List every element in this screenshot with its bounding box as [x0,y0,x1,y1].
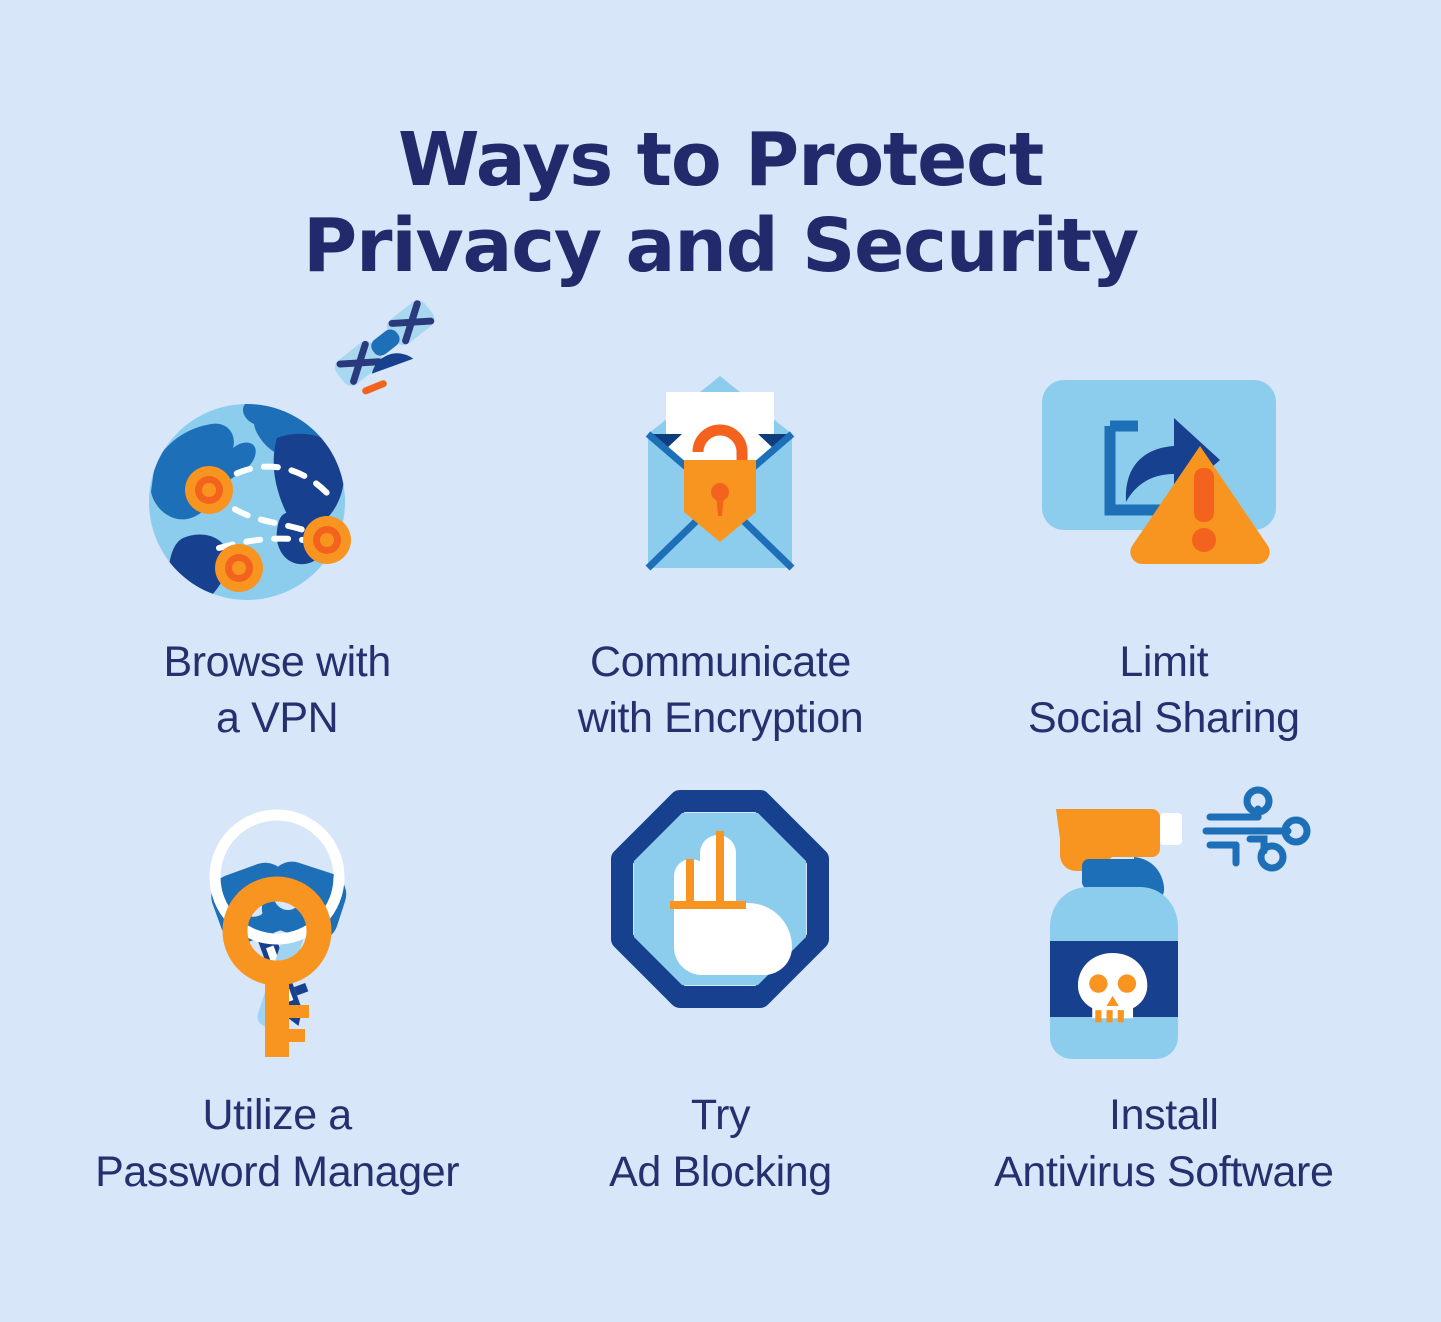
caption-line-1: Communicate [578,634,864,691]
caption-line-2: a VPN [163,690,390,747]
caption-line-1: Install [994,1087,1333,1144]
page-title: Ways to Protect Privacy and Security [171,118,1271,290]
stop-hand-icon [570,773,870,1073]
spray-bottle-skull-icon [1014,773,1314,1073]
tip-card-limit-social-sharing: Limit Social Sharing [942,342,1385,748]
share-warning-icon [1014,342,1314,612]
caption-line-2: Social Sharing [1028,690,1300,747]
tips-grid: Browse with a VPN [56,342,1386,1201]
caption-line-1: Limit [1028,634,1300,691]
caption-line-2: with Encryption [578,690,864,747]
page-title-line-1: Ways to Protect [171,118,1271,204]
caption-line-1: Browse with [163,634,390,691]
caption-line-2: Ad Blocking [609,1144,832,1201]
tip-caption-browse-with-vpn: Browse with a VPN [163,634,390,748]
tip-card-communicate-with-encryption: Communicate with Encryption [499,342,942,748]
page-title-line-2: Privacy and Security [171,204,1271,290]
caption-line-1: Try [609,1087,832,1144]
tip-card-utilize-password-manager: Utilize a Password Manager [56,773,499,1201]
tip-caption-communicate-with-encryption: Communicate with Encryption [578,634,864,748]
tip-card-try-ad-blocking: Try Ad Blocking [499,773,942,1201]
tip-caption-limit-social-sharing: Limit Social Sharing [1028,634,1300,748]
envelope-lock-icon [570,342,870,612]
globe-satellite-icon [127,342,427,612]
keyring-keys-icon [127,773,427,1073]
tip-caption-install-antivirus-software: Install Antivirus Software [994,1087,1333,1201]
tip-card-install-antivirus-software: Install Antivirus Software [942,773,1385,1201]
tip-card-browse-with-vpn: Browse with a VPN [56,342,499,748]
caption-line-2: Antivirus Software [994,1144,1333,1201]
infographic-root: Ways to Protect Privacy and Security [0,0,1441,1322]
tip-caption-utilize-password-manager: Utilize a Password Manager [95,1087,459,1201]
caption-line-2: Password Manager [95,1144,459,1201]
caption-line-1: Utilize a [95,1087,459,1144]
tip-caption-try-ad-blocking: Try Ad Blocking [609,1087,832,1201]
